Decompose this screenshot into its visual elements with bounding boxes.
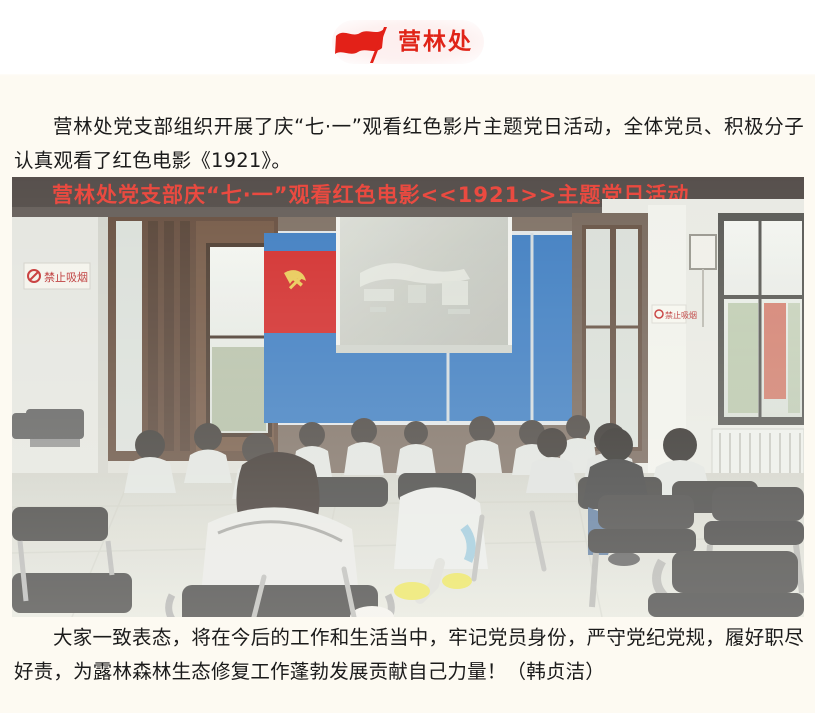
page-title: 营林处 bbox=[398, 27, 494, 57]
closing-paragraph: 大家一致表态，将在今后的工作和生活当中，牢记党员身份，严守党纪党规，履好职尽好责… bbox=[14, 621, 804, 689]
photo-scene: 禁止吸烟 bbox=[12, 177, 804, 617]
red-flag-icon bbox=[332, 22, 394, 64]
activity-photo: 禁止吸烟 bbox=[12, 177, 804, 617]
intro-paragraph: 营林处党支部组织开展了庆“七·一”观看红色影片主题党日活动，全体党员、积极分子认… bbox=[14, 110, 804, 178]
article-page: 营林处 营林处党支部组织开展了庆“七·一”观看红色影片主题党日活动，全体党员、积… bbox=[0, 0, 815, 713]
